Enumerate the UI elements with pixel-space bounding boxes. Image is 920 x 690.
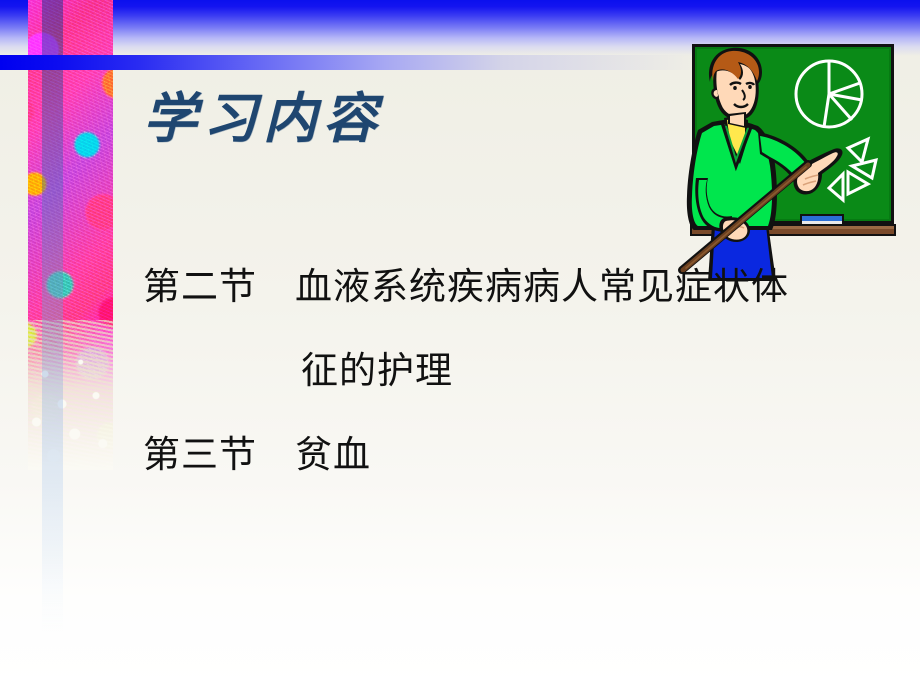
left-colorful-texture-strip [28, 0, 113, 470]
content-line-2: 征的护理 [143, 330, 883, 414]
page-title: 学习内容 [143, 92, 383, 146]
vertical-translucent-blue-band-highlight [42, 0, 63, 640]
texture-dissolve-fade [28, 350, 113, 470]
horizontal-blue-rule [0, 55, 700, 70]
board-eraser-icon [800, 214, 844, 226]
content-line-1: 第二节 血液系统疾病病人常见症状体 [143, 246, 883, 330]
content-list: 第二节 血液系统疾病病人常见症状体 征的护理 第三节 贫血 [143, 246, 883, 498]
content-line-3: 第三节 贫血 [143, 414, 883, 498]
presentation-slide: 学习内容 第二节 血液系统疾病病人常见症状体 征的护理 第三节 贫血 [0, 0, 920, 690]
